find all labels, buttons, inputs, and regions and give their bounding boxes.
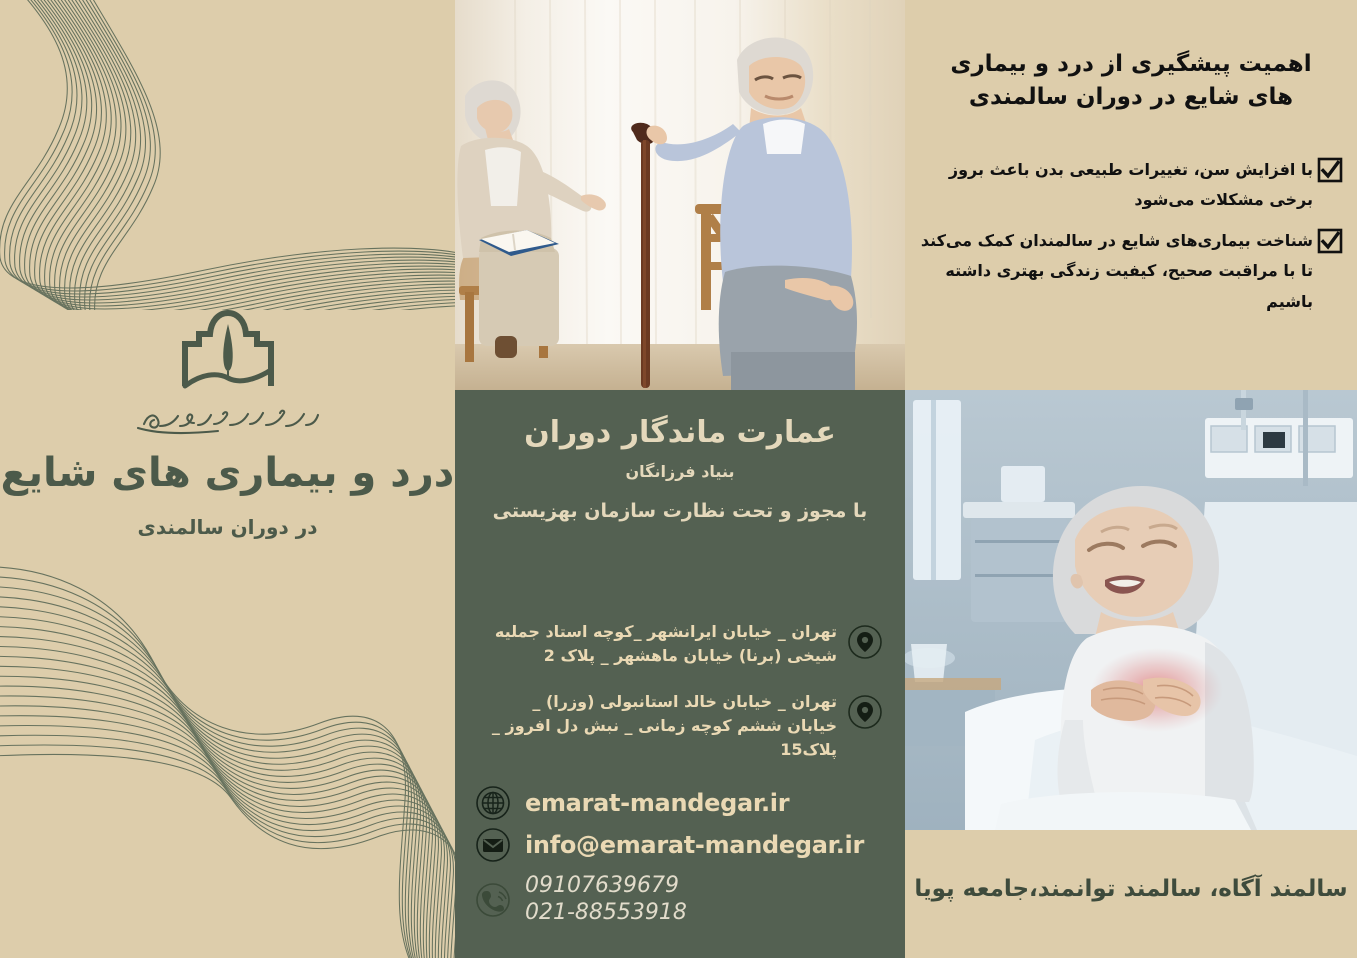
benefits-list: با افزایش سن، تغییرات طبیعی بدن باعث برو…	[919, 155, 1343, 327]
phone-row[interactable]: 09107639679 021-88553918	[455, 873, 905, 927]
organization-logo	[0, 308, 455, 438]
license-note: با مجوز و تحت نظارت سازمان بهزیستی	[455, 500, 905, 522]
map-pin-icon	[847, 624, 883, 660]
page-title: درد و بیماری های شایع	[0, 450, 455, 496]
right-info-panel: اهمیت پیشگیری از درد و بیماری های شایع د…	[905, 0, 1357, 390]
email-address[interactable]: info@emarat-mandegar.ir	[525, 831, 864, 859]
website-url[interactable]: emarat-mandegar.ir	[525, 789, 789, 817]
address-row: تهران _ خیابان ایرانشهر _کوچه استاد جملی…	[455, 620, 905, 668]
address-text: تهران _ خیابان خالد استانبولی (وزرا) _ خ…	[483, 690, 837, 762]
wave-decoration-bottom-icon	[0, 555, 455, 958]
checkbox-checked-icon	[1317, 157, 1343, 183]
list-item: با افزایش سن، تغییرات طبیعی بدن باعث برو…	[919, 155, 1343, 216]
page-subtitle: در دوران سالمندی	[0, 515, 455, 539]
brochure-page: درد و بیماری های شایع در دوران سالمندی	[0, 0, 1357, 958]
right-panel-heading: اهمیت پیشگیری از درد و بیماری های شایع د…	[927, 48, 1335, 115]
list-item-text: شناخت بیماری‌های شایع در سالمندان کمک می…	[919, 226, 1313, 317]
left-cover-panel: درد و بیماری های شایع در دوران سالمندی	[0, 0, 455, 958]
address-text: تهران _ خیابان ایرانشهر _کوچه استاد جملی…	[483, 620, 837, 668]
list-item: شناخت بیماری‌های شایع در سالمندان کمک می…	[919, 226, 1343, 317]
contact-info-panel: عمارت ماندگار دوران بنیاد فرزانگان با مج…	[455, 390, 905, 958]
phone-number-mobile[interactable]: 09107639679	[525, 873, 687, 900]
tagline-text: سالمند آگاه، سالمند توانمند،جامعه پویا	[905, 876, 1357, 902]
organization-name: عمارت ماندگار دوران	[455, 415, 905, 450]
building-book-pen-logo-icon	[173, 308, 283, 400]
elderly-couple-with-cane-photo	[455, 0, 905, 390]
elderly-man-chest-pain-photo	[905, 390, 1357, 830]
phone-numbers[interactable]: 09107639679 021-88553918	[525, 873, 687, 927]
logo-wordmark-icon	[128, 404, 328, 438]
website-row[interactable]: emarat-mandegar.ir	[455, 785, 905, 821]
globe-icon	[475, 785, 511, 821]
map-pin-icon	[847, 694, 883, 730]
contact-list: emarat-mandegar.ir info@emarat-mandegar.…	[455, 785, 905, 933]
envelope-icon	[475, 827, 511, 863]
checkbox-checked-icon	[1317, 228, 1343, 254]
wave-decoration-top-icon	[0, 0, 455, 310]
address-row: تهران _ خیابان خالد استانبولی (وزرا) _ خ…	[455, 690, 905, 762]
foundation-name: بنیاد فرزانگان	[455, 462, 905, 481]
list-item-text: با افزایش سن، تغییرات طبیعی بدن باعث برو…	[919, 155, 1313, 216]
address-list: تهران _ خیابان ایرانشهر _کوچه استاد جملی…	[455, 620, 905, 784]
tagline-panel: سالمند آگاه، سالمند توانمند،جامعه پویا	[905, 830, 1357, 958]
email-row[interactable]: info@emarat-mandegar.ir	[455, 827, 905, 863]
phone-number-landline[interactable]: 021-88553918	[525, 900, 687, 927]
phone-icon	[475, 882, 511, 918]
